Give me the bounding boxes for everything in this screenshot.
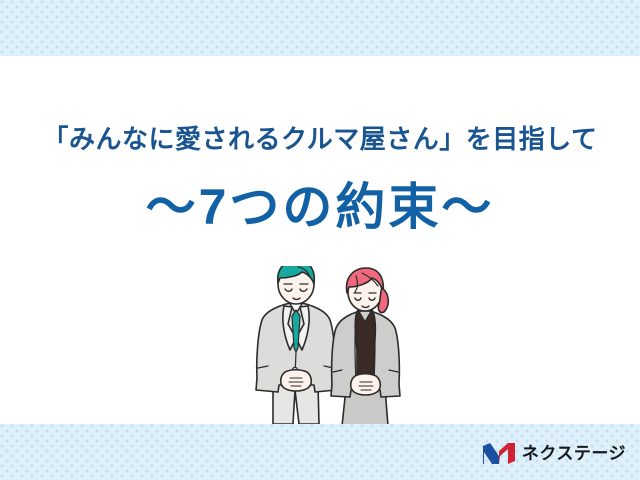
page-title: 「みんなに愛されるクルマ屋さん」を目指して	[0, 126, 640, 152]
staff-illustration	[232, 266, 422, 426]
page-subtitle: 〜7つの約束〜	[0, 182, 640, 232]
female-staff-figure	[331, 268, 400, 426]
top-dot-band	[0, 0, 640, 56]
nextage-n-mark-icon	[482, 442, 516, 465]
brand-logo: ネクステージ	[482, 440, 626, 466]
promo-banner: 「みんなに愛されるクルマ屋さん」を目指して 〜7つの約束〜	[0, 0, 640, 480]
male-staff-figure	[256, 266, 336, 424]
brand-logo-text: ネクステージ	[522, 445, 626, 462]
staff-illustration-svg	[232, 266, 422, 426]
